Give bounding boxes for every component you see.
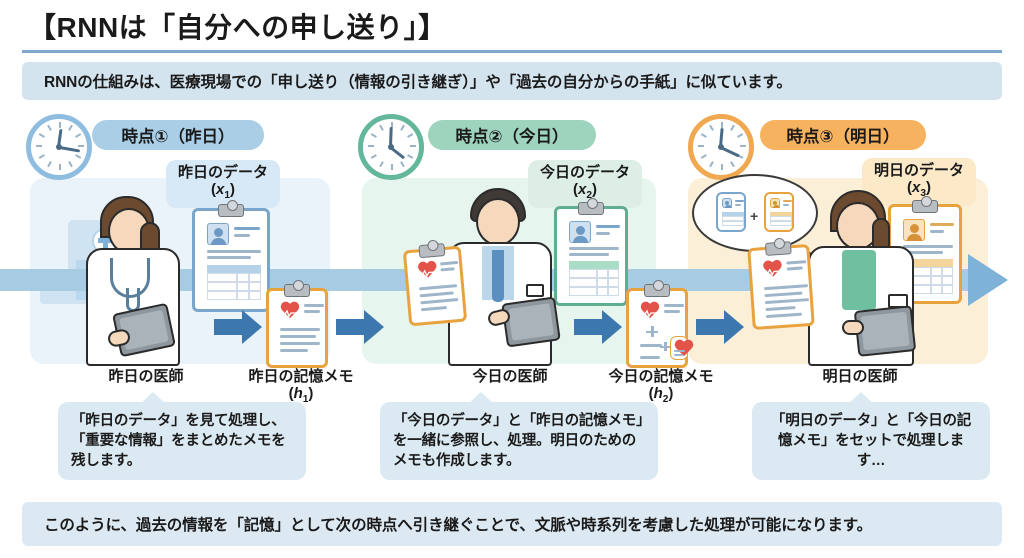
summary-text: このように、過去の情報を「記憶」として次の時点へ引き継ぐことで、文脈や時系列を考… — [22, 513, 872, 535]
flow-arrow-3 — [574, 310, 622, 344]
clock-icon-step1 — [26, 114, 92, 180]
flow-arrow-4 — [696, 310, 744, 344]
caption-doctor-step2: 今日の医師 — [450, 368, 570, 385]
time-badge-step2: 時点②（今日） — [428, 120, 596, 150]
memo-clipboard-h2 — [626, 288, 688, 368]
memo-clipboard-h1-held — [403, 246, 467, 327]
bubble-plus-sign: + — [750, 208, 758, 224]
data-label-text-step3: 明日のデータ — [874, 163, 964, 180]
intro-banner: RNNの仕組みは、医療現場での「申し送り（情報の引き継ぎ）」や「過去の自分からの… — [22, 62, 1002, 100]
heart-ecg-icon — [280, 302, 300, 320]
caption-memo-text-step1: 昨日の記憶メモ — [236, 368, 366, 385]
callout-step3: 「明日のデータ」と「今日の記憶メモ」をセットで処理します… — [752, 402, 990, 480]
summary-banner: このように、過去の情報を「記憶」として次の時点へ引き継ぐことで、文脈や時系列を考… — [22, 502, 1002, 546]
flow-arrow-1 — [214, 310, 262, 344]
intro-text: RNNの仕組みは、医療現場での「申し送り（情報の引き継ぎ）」や「過去の自分からの… — [22, 70, 792, 92]
data-clipboard-x1 — [192, 208, 270, 312]
data-label-text-step1: 昨日のデータ — [178, 165, 268, 182]
title-divider — [22, 50, 1002, 53]
time-badge-step1: 時点①（昨日） — [92, 120, 264, 150]
bubble-data-card — [716, 192, 746, 232]
doctor-figure-step1 — [74, 196, 194, 366]
heart-ecg-icon — [417, 261, 438, 281]
caption-memo-step2: 今日の記憶メモ (h2) — [596, 368, 726, 406]
clock-icon-step2 — [358, 114, 424, 180]
caption-doctor-step1: 昨日の医師 — [86, 368, 206, 385]
memo-clipboard-h2-held — [747, 244, 815, 330]
heart-ecg-icon — [762, 260, 783, 279]
nested-memo-clipboard — [670, 336, 688, 360]
caption-memo-text-step2: 今日の記憶メモ — [596, 368, 726, 385]
memo-clipboard-h1 — [266, 288, 328, 368]
infographic-root: 【RNNは「自分への申し送り」】 RNNの仕組みは、医療現場での「申し送り（情報… — [0, 0, 1024, 558]
data-clipboard-x2 — [554, 206, 628, 306]
time-badge-step3: 時点③（明日） — [760, 120, 926, 150]
flow-arrow-2 — [336, 310, 384, 344]
heart-ecg-icon — [640, 302, 660, 320]
page-title: 【RNNは「自分への申し送り」】 — [28, 6, 447, 46]
data-label-text-step2: 今日のデータ — [540, 165, 630, 182]
callout-step2: 「今日のデータ」と「昨日の記憶メモ」を一緒に参照し、処理。明日のためのメモも作成… — [380, 402, 658, 480]
time-axis-arrowhead — [968, 254, 1008, 306]
callout-step1: 「昨日のデータ」を見て処理し、「重要な情報」をまとめたメモを残します。 — [58, 402, 306, 480]
illustration-stage: 時点①（昨日） 時点②（今日） 時点③（明日） 昨日のデータ (x1) 今日のデ… — [0, 104, 1024, 394]
caption-doctor-step3: 明日の医師 — [800, 368, 920, 385]
clock-icon-step3 — [688, 114, 754, 180]
caption-memo-step1: 昨日の記憶メモ (h1) — [236, 368, 366, 406]
